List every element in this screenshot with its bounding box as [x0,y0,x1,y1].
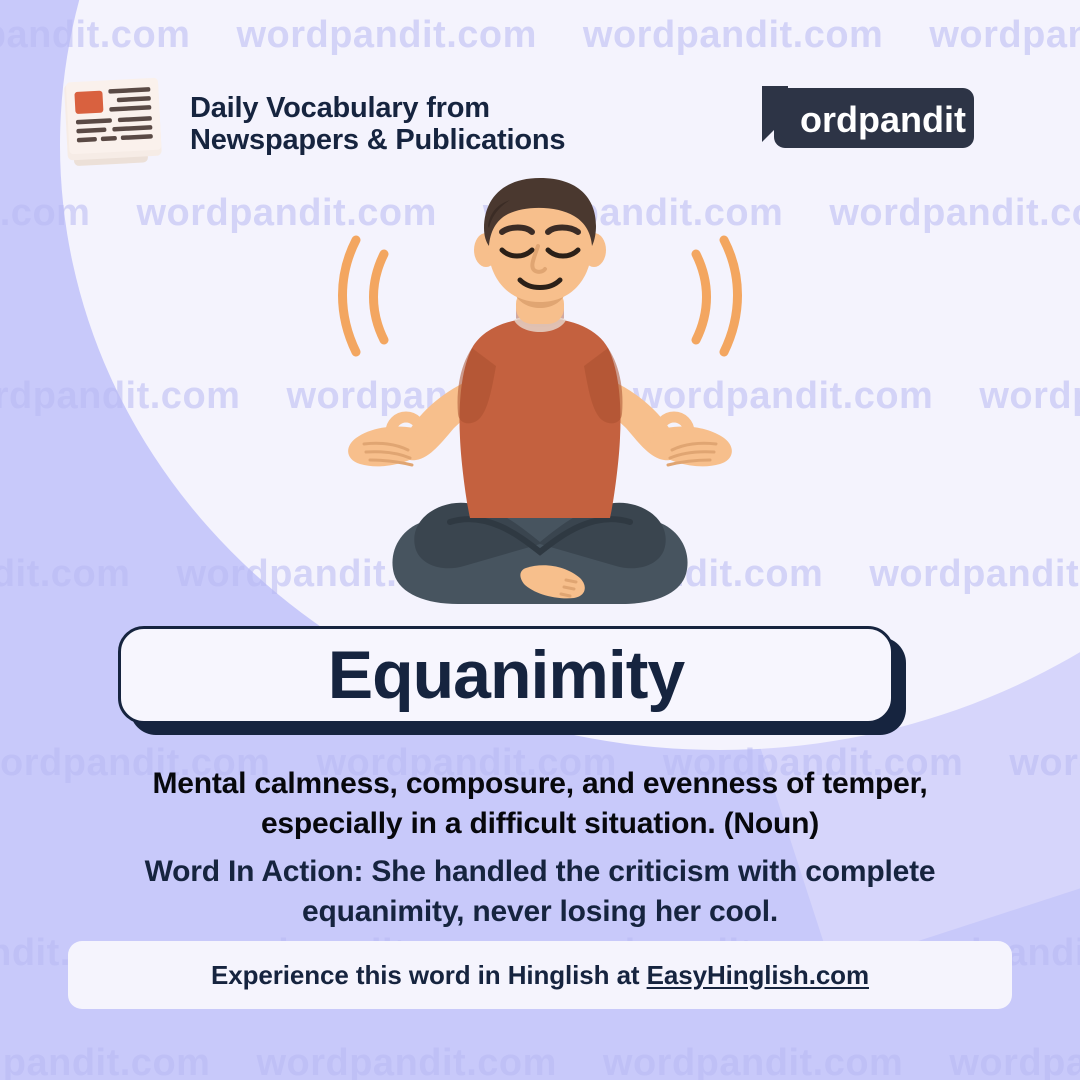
example-line1: Word In Action: She handled the criticis… [45,852,1035,892]
easyhinglish-link[interactable]: EasyHinglish.com [647,960,869,990]
definition-line2: especially in a difficult situation. (No… [50,804,1030,844]
vocabulary-card: wordpandit.comwordpandit.comwordpandit.c… [0,0,1080,1080]
word-card-container: Equanimity [118,626,894,724]
example-text: Word In Action: She handled the criticis… [45,852,1035,932]
example-line2: equanimity, never losing her cool. [45,892,1035,932]
newspaper-icon [58,72,170,172]
head [474,178,606,324]
header-title: Daily Vocabulary from Newspapers & Publi… [190,92,565,157]
word-card: Equanimity [118,626,894,724]
definition-text: Mental calmness, composure, and evenness… [50,764,1030,844]
wordpandit-logo[interactable]: ordpandit [756,84,978,152]
wordpandit-logo-text: ordpandit [800,99,966,140]
header-title-line1: Daily Vocabulary from [190,92,565,124]
definition-line1: Mental calmness, composure, and evenness… [50,764,1030,804]
cta-prefix: Experience this word in Hinglish at [211,960,647,990]
meditating-man-illustration [330,170,750,620]
header: Daily Vocabulary from Newspapers & Publi… [0,0,1080,180]
header-title-line2: Newspapers & Publications [190,124,565,156]
hinglish-cta-bar[interactable]: Experience this word in Hinglish at Easy… [68,941,1012,1009]
aura-arcs-right [696,240,738,352]
vocabulary-word: Equanimity [328,641,685,709]
torso-and-arms [402,306,677,518]
cta-text: Experience this word in Hinglish at Easy… [211,960,869,991]
aura-arcs-left [343,240,385,352]
